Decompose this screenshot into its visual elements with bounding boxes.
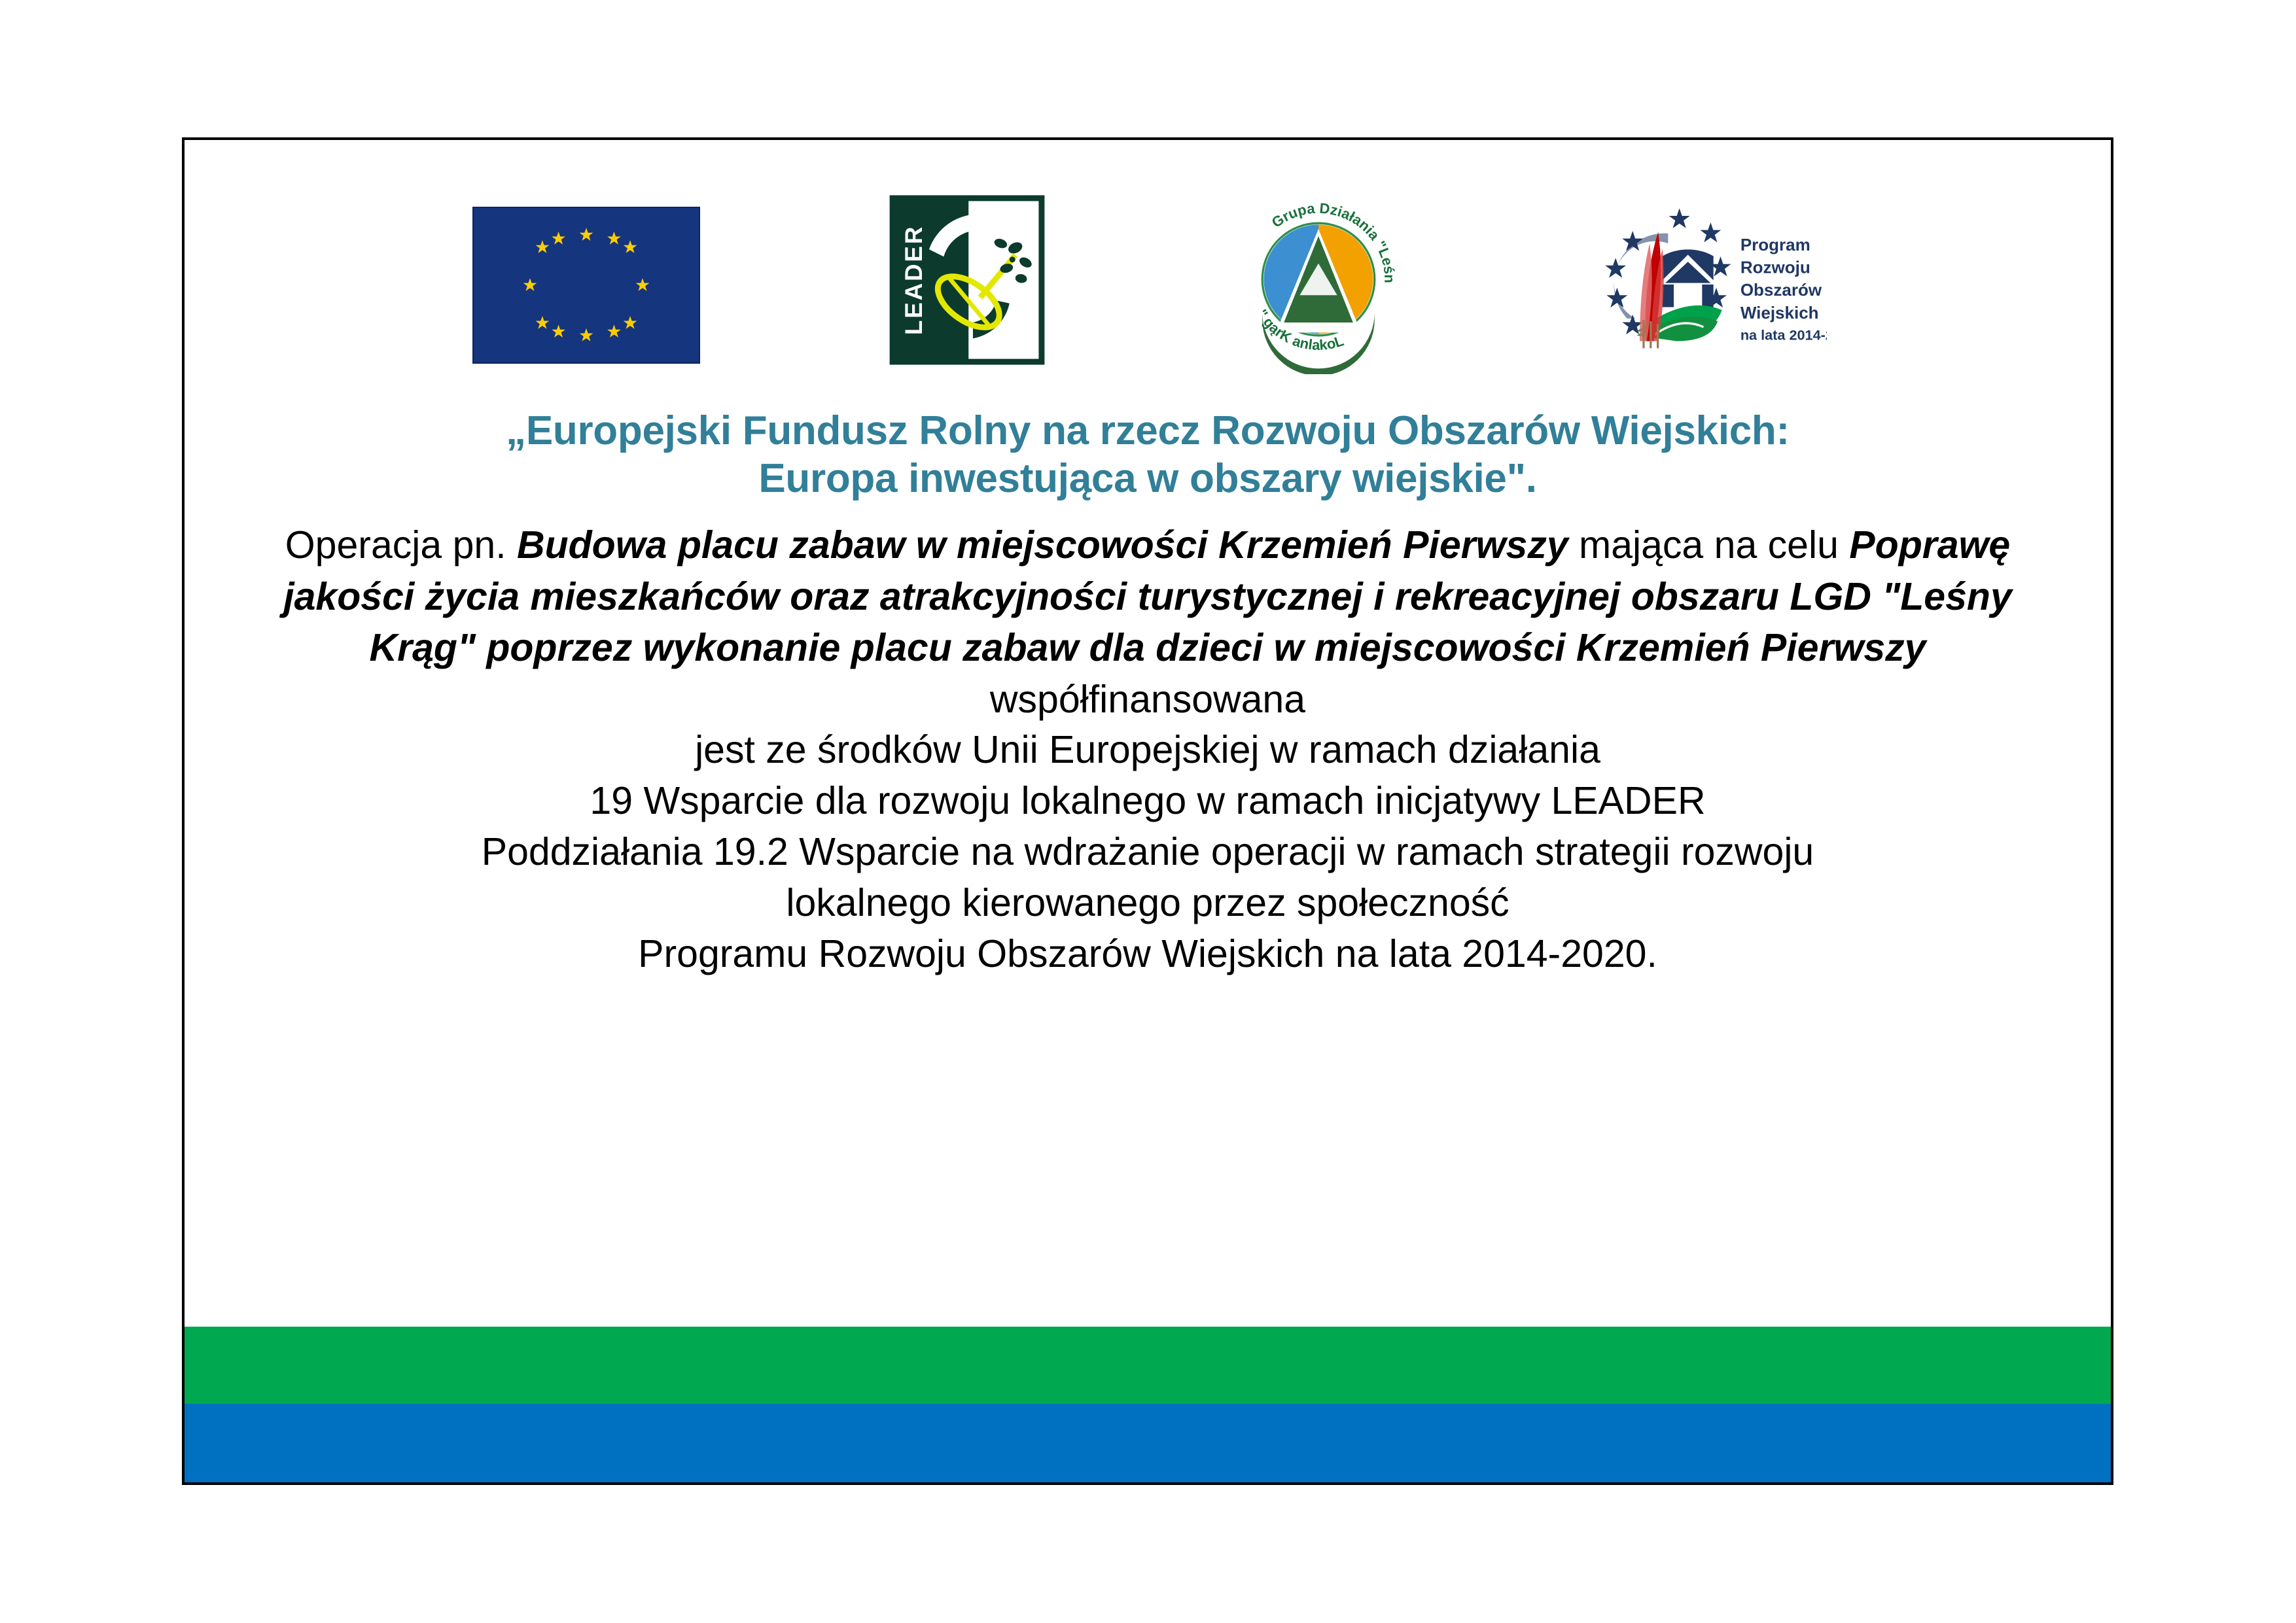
body-line-5: Programu Rozwoju Obszarów Wiejskich na l… xyxy=(237,929,2058,980)
green-bar xyxy=(185,1327,2111,1404)
leader-logo: LEADER xyxy=(886,192,1048,368)
operation-connector-1: mająca na celu xyxy=(1579,523,1839,567)
lgd-lesny-krag-logo: Grupa Działania "Leśny " gąrK anlakoL xyxy=(1225,184,1412,374)
operation-title: Budowa placu zabaw w miejscowości Krzemi… xyxy=(517,523,1568,567)
eu-flag-logo xyxy=(472,207,700,364)
operation-lead: Operacja pn. xyxy=(285,523,506,567)
body-text-block: Operacja pn. Budowa placu zabaw w miejsc… xyxy=(237,519,2058,979)
lesny-krag-icon: Grupa Działania "Leśny " gąrK anlakoL xyxy=(1225,184,1412,374)
color-bar-stack xyxy=(185,1327,2111,1482)
headline-line-2: Europa inwestująca w obszary wiejskie". xyxy=(296,455,2000,502)
headline-line-1: „Europejski Fundusz Rolny na rzecz Rozwo… xyxy=(296,407,2000,455)
prow-logo: Program Rozwoju Obszarów Wiejskich na la… xyxy=(1572,199,1827,356)
operation-connector-2: współfinansowana xyxy=(990,678,1305,721)
page-title: „Europejski Fundusz Rolny na rzecz Rozwo… xyxy=(296,407,2000,502)
prow-text-line-2: Rozwoju xyxy=(1740,258,1810,277)
operation-paragraph: Operacja pn. Budowa placu zabaw w miejsc… xyxy=(283,519,2013,725)
body-line-4: lokalnego kierowanego przez społeczność xyxy=(237,878,2058,929)
logo-strip: LEADER xyxy=(185,179,2111,395)
prow-text-line-3: Obszarów xyxy=(1740,280,1822,300)
prow-text-line-5: na lata 2014-2020 xyxy=(1740,326,1827,343)
poster-frame: LEADER xyxy=(182,137,2113,1485)
prow-text-line-1: Program xyxy=(1740,235,1810,254)
eu-flag-icon xyxy=(474,208,699,362)
body-line-3: Poddziałania 19.2 Wsparcie na wdrażanie … xyxy=(237,827,2058,878)
blue-bar xyxy=(185,1404,2111,1482)
body-line-1: jest ze środków Unii Europejskiej w rama… xyxy=(237,725,2058,776)
svg-text:LEADER: LEADER xyxy=(900,225,927,335)
prow-text-line-4: Wiejskich xyxy=(1740,303,1819,323)
prow-icon: Program Rozwoju Obszarów Wiejskich na la… xyxy=(1572,199,1827,356)
body-line-2: 19 Wsparcie dla rozwoju lokalnego w rama… xyxy=(237,776,2058,827)
leader-icon: LEADER xyxy=(886,192,1048,368)
